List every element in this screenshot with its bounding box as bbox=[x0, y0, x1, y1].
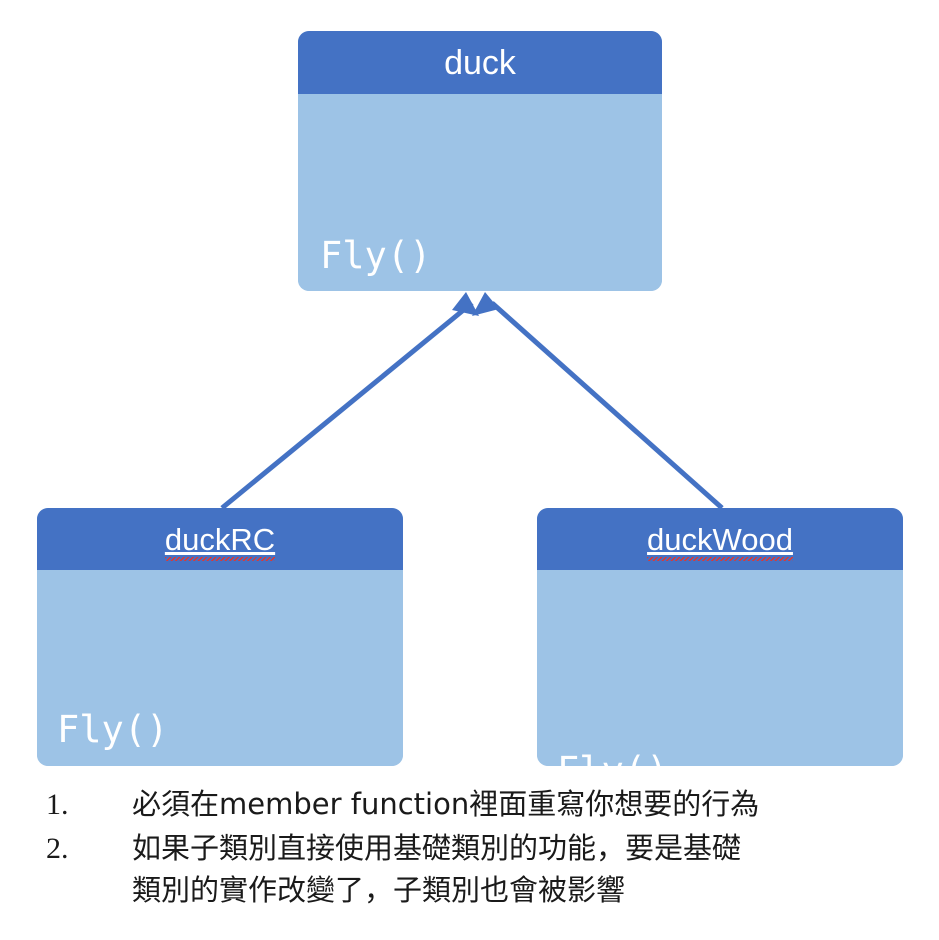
note-item: 2. 如果子類別直接使用基礎類別的功能，要是基礎 類別的實作改變了，子類別也會被… bbox=[46, 827, 926, 911]
note-text: 如果子類別直接使用基礎類別的功能，要是基礎 類別的實作改變了，子類別也會被影響 bbox=[132, 827, 926, 911]
notes-list: 1. 必須在member function裡面重寫你想要的行為 2. 如果子類別… bbox=[46, 783, 926, 911]
note-marker: 1. bbox=[46, 783, 132, 827]
uml-class-name-duckwood: duckWood bbox=[647, 524, 793, 555]
uml-class-box-duck[interactable]: duck Fly() Sound() bbox=[298, 31, 662, 291]
connector-duckrc-to-duck bbox=[222, 292, 479, 508]
diagram-canvas: duck Fly() Sound() duckRC Fly() Sound() … bbox=[0, 0, 939, 940]
uml-class-methods-duckrc: Fly() Sound() bbox=[37, 570, 403, 766]
uml-class-name-duck: duck bbox=[444, 46, 516, 80]
uml-method: Fly() bbox=[557, 747, 903, 766]
uml-method: Fly() bbox=[57, 706, 403, 753]
note-line: 類別的實作改變了，子類別也會被影響 bbox=[132, 869, 926, 911]
connector-duckwood-to-duck bbox=[472, 292, 722, 508]
note-marker: 2. bbox=[46, 827, 132, 871]
note-line: 必須在member function裡面重寫你想要的行為 bbox=[132, 787, 759, 821]
note-line: 如果子類別直接使用基礎類別的功能，要是基礎 bbox=[132, 827, 926, 869]
uml-method: Fly() bbox=[320, 232, 662, 279]
uml-class-name-duckrc: duckRC bbox=[165, 524, 275, 555]
note-text: 必須在member function裡面重寫你想要的行為 bbox=[132, 783, 926, 825]
uml-class-header-duckrc: duckRC bbox=[37, 508, 403, 570]
uml-class-box-duckwood[interactable]: duckWood Fly() bbox=[537, 508, 903, 766]
uml-class-methods-duck: Fly() Sound() bbox=[298, 94, 662, 291]
uml-class-box-duckrc[interactable]: duckRC Fly() Sound() bbox=[37, 508, 403, 766]
uml-class-methods-duckwood: Fly() bbox=[537, 570, 903, 766]
uml-class-header-duckwood: duckWood bbox=[537, 508, 903, 570]
note-item: 1. 必須在member function裡面重寫你想要的行為 bbox=[46, 783, 926, 827]
uml-class-header-duck: duck bbox=[298, 31, 662, 94]
